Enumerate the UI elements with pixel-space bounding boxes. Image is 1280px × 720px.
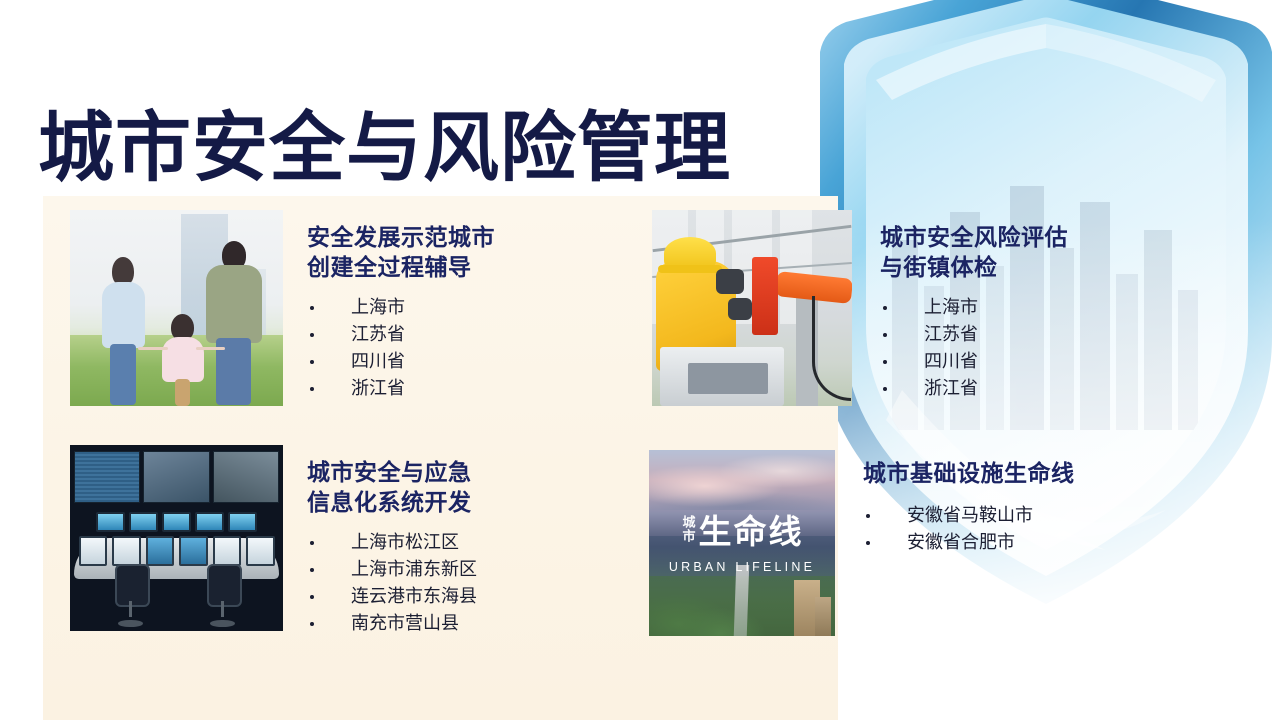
list-item: 上海市 bbox=[307, 294, 495, 321]
card-bullet-list: 安徽省马鞍山市 安徽省合肥市 bbox=[863, 502, 1075, 556]
card-heading: 城市基础设施生命线 bbox=[863, 458, 1075, 488]
card-text-block: 安全发展示范城市 创建全过程辅导 上海市 江苏省 四川省 浙江省 bbox=[307, 210, 495, 402]
list-item: 浙江省 bbox=[880, 375, 1068, 402]
list-item: 四川省 bbox=[307, 348, 495, 375]
list-item: 安徽省马鞍山市 bbox=[863, 502, 1075, 529]
list-item: 南充市营山县 bbox=[307, 610, 477, 637]
lifeline-overlay-title: 生命线 bbox=[699, 505, 804, 553]
family-walking-photo bbox=[70, 210, 283, 406]
card-bullet-list: 上海市 江苏省 四川省 浙江省 bbox=[880, 294, 1068, 402]
lifeline-overlay-subtitle: URBAN LIFELINE bbox=[669, 560, 815, 574]
card-risk-assessment[interactable]: 城市安全风险评估 与街镇体检 上海市 江苏省 四川省 浙江省 bbox=[652, 210, 1068, 406]
list-item: 连云港市东海县 bbox=[307, 583, 477, 610]
list-item: 上海市浦东新区 bbox=[307, 556, 477, 583]
card-text-block: 城市安全风险评估 与街镇体检 上海市 江苏省 四川省 浙江省 bbox=[880, 210, 1068, 402]
card-text-block: 城市基础设施生命线 安徽省马鞍山市 安徽省合肥市 bbox=[863, 450, 1075, 556]
utility-worker-photo bbox=[652, 210, 852, 406]
lifeline-overlay-small: 城市 bbox=[681, 515, 695, 543]
list-item: 安徽省合肥市 bbox=[863, 529, 1075, 556]
card-emergency-info-system[interactable]: 城市安全与应急 信息化系统开发 上海市松江区 上海市浦东新区 连云港市东海县 南… bbox=[70, 445, 477, 637]
list-item: 江苏省 bbox=[307, 321, 495, 348]
list-item: 四川省 bbox=[880, 348, 1068, 375]
list-item: 浙江省 bbox=[307, 375, 495, 402]
card-text-block: 城市安全与应急 信息化系统开发 上海市松江区 上海市浦东新区 连云港市东海县 南… bbox=[307, 445, 477, 637]
slide-canvas: 城市安全与风险管理 安全发展示范城市 创建全过程辅导 上海市 bbox=[0, 0, 1280, 720]
card-heading: 城市安全与应急 信息化系统开发 bbox=[307, 457, 477, 517]
list-item: 上海市 bbox=[880, 294, 1068, 321]
card-heading: 城市安全风险评估 与街镇体检 bbox=[880, 222, 1068, 282]
card-safety-demo-city[interactable]: 安全发展示范城市 创建全过程辅导 上海市 江苏省 四川省 浙江省 bbox=[70, 210, 495, 406]
urban-lifeline-photo: 城市 生命线 URBAN LIFELINE bbox=[649, 450, 835, 636]
card-grid: 安全发展示范城市 创建全过程辅导 上海市 江苏省 四川省 浙江省 bbox=[0, 0, 1280, 720]
card-bullet-list: 上海市 江苏省 四川省 浙江省 bbox=[307, 294, 495, 402]
card-urban-lifeline[interactable]: 城市 生命线 URBAN LIFELINE 城市基础设施生命线 安徽省马鞍山市 … bbox=[649, 450, 1075, 636]
card-heading: 安全发展示范城市 创建全过程辅导 bbox=[307, 222, 495, 282]
list-item: 江苏省 bbox=[880, 321, 1068, 348]
list-item: 上海市松江区 bbox=[307, 529, 477, 556]
control-room-photo bbox=[70, 445, 283, 631]
card-bullet-list: 上海市松江区 上海市浦东新区 连云港市东海县 南充市营山县 bbox=[307, 529, 477, 637]
